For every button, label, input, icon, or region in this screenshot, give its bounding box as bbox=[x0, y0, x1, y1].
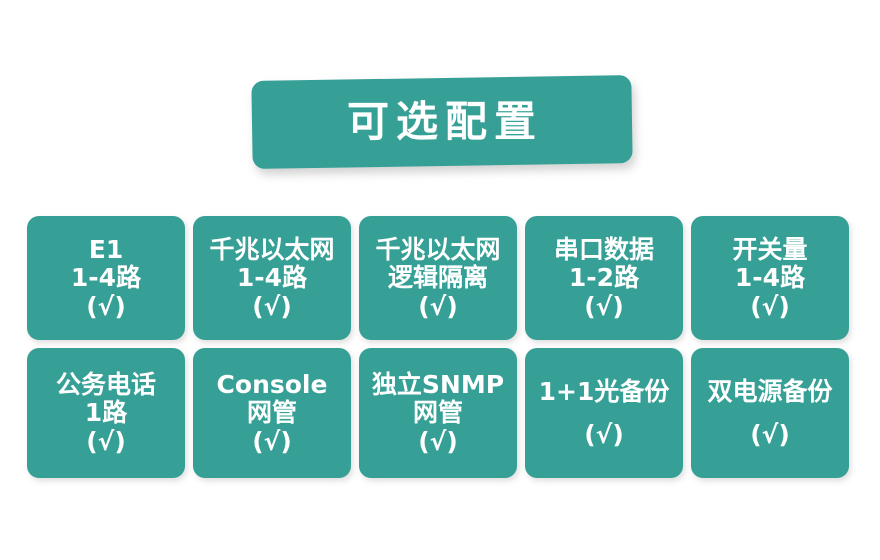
option-card-title: 开关量 bbox=[732, 236, 807, 264]
option-card-subtitle: 1-4路 bbox=[71, 264, 141, 292]
option-card-title: 公务电话 bbox=[56, 371, 156, 399]
card-row-1: E1 1-4路 (√) 千兆以太网 1-4路 (√) 千兆以太网 逻辑隔离 (√… bbox=[27, 216, 855, 340]
option-card-subtitle: 1-2路 bbox=[569, 264, 639, 292]
check-mark-icon: (√) bbox=[584, 420, 624, 450]
option-card-dual-power-redundancy[interactable]: 双电源备份 (√) bbox=[691, 348, 849, 478]
option-card-standalone-snmp-management[interactable]: 独立SNMP 网管 (√) bbox=[359, 348, 517, 478]
page-root: 可选配置 E1 1-4路 (√) 千兆以太网 1-4路 (√) 千兆以太网 逻辑… bbox=[0, 0, 880, 560]
card-row-2: 公务电话 1路 (√) Console 网管 (√) 独立SNMP 网管 (√)… bbox=[27, 348, 855, 478]
option-card-console-management[interactable]: Console 网管 (√) bbox=[193, 348, 351, 478]
check-mark-icon: (√) bbox=[86, 292, 126, 322]
option-card-title: Console bbox=[217, 371, 328, 399]
option-card-serial-data[interactable]: 串口数据 1-2路 (√) bbox=[525, 216, 683, 340]
option-card-optical-redundancy[interactable]: 1+1光备份 (√) bbox=[525, 348, 683, 478]
option-card-subtitle: 网管 bbox=[413, 399, 463, 427]
banner-plate: 可选配置 bbox=[251, 75, 632, 169]
check-mark-icon: (√) bbox=[750, 420, 790, 450]
check-mark-icon: (√) bbox=[86, 427, 126, 457]
check-mark-icon: (√) bbox=[418, 292, 458, 322]
option-card-subtitle: 逻辑隔离 bbox=[388, 264, 488, 292]
page-title: 可选配置 bbox=[340, 101, 543, 143]
check-mark-icon: (√) bbox=[252, 292, 292, 322]
check-mark-icon: (√) bbox=[750, 292, 790, 322]
option-card-gigabit-ethernet[interactable]: 千兆以太网 1-4路 (√) bbox=[193, 216, 351, 340]
option-card-title: 千兆以太网 bbox=[375, 236, 500, 264]
option-card-e1[interactable]: E1 1-4路 (√) bbox=[27, 216, 185, 340]
option-card-gigabit-ethernet-logical-isolation[interactable]: 千兆以太网 逻辑隔离 (√) bbox=[359, 216, 517, 340]
option-card-subtitle: 1路 bbox=[85, 399, 127, 427]
option-card-title: 串口数据 bbox=[554, 236, 654, 264]
option-card-title: 1+1光备份 bbox=[539, 378, 670, 406]
option-card-grid: E1 1-4路 (√) 千兆以太网 1-4路 (√) 千兆以太网 逻辑隔离 (√… bbox=[27, 216, 855, 478]
option-card-title: E1 bbox=[89, 236, 123, 264]
option-card-subtitle: 1-4路 bbox=[237, 264, 307, 292]
option-card-official-phone[interactable]: 公务电话 1路 (√) bbox=[27, 348, 185, 478]
check-mark-icon: (√) bbox=[584, 292, 624, 322]
option-card-switch-quantity[interactable]: 开关量 1-4路 (√) bbox=[691, 216, 849, 340]
option-card-title: 独立SNMP bbox=[372, 371, 504, 399]
option-card-subtitle: 1-4路 bbox=[735, 264, 805, 292]
check-mark-icon: (√) bbox=[252, 427, 292, 457]
option-card-title: 双电源备份 bbox=[707, 378, 832, 406]
option-card-title: 千兆以太网 bbox=[209, 236, 334, 264]
option-card-subtitle: 网管 bbox=[247, 399, 297, 427]
section-banner: 可选配置 bbox=[251, 75, 632, 169]
check-mark-icon: (√) bbox=[418, 427, 458, 457]
